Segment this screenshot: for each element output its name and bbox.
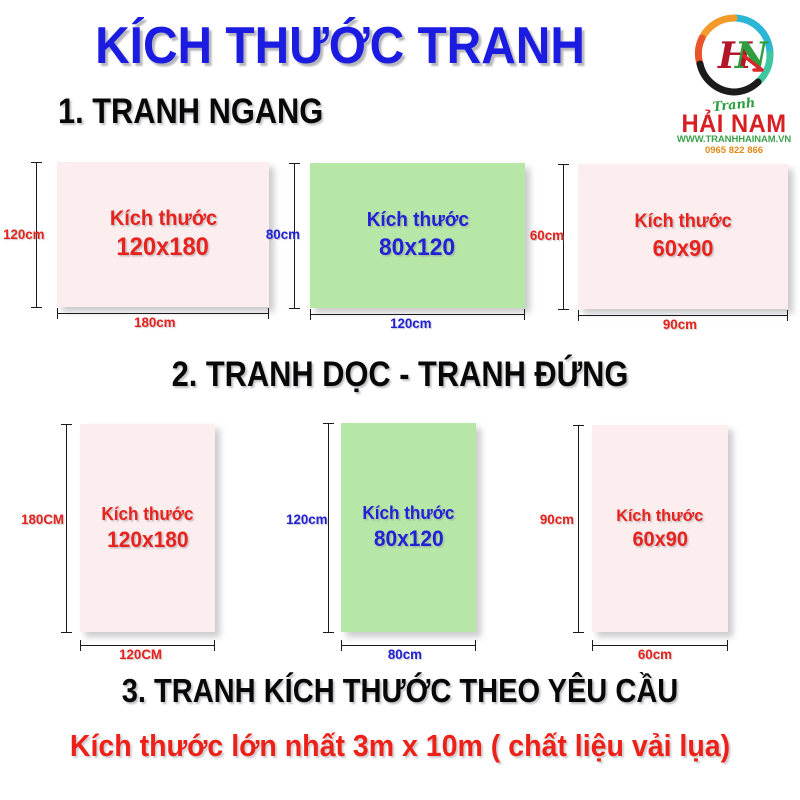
dim-tick-v2-bottom <box>323 632 334 633</box>
dim-label-v1-height: 180CM <box>21 511 64 527</box>
dim-label-v1-width: 120CM <box>119 646 162 662</box>
dim-label-h1-height: 120cm <box>3 226 44 242</box>
canvas-label-prefix: Kích thước <box>109 207 216 231</box>
dim-tick-v3-right <box>727 640 728 651</box>
dim-label-h3-height: 60cm <box>530 227 564 243</box>
canvas-label-size: 60x90 <box>632 528 687 552</box>
page-title: KÍCH THƯỚC TRANH <box>27 16 653 76</box>
dim-tick-h3-bottom <box>558 309 569 310</box>
dim-tick-h1-right <box>268 308 269 319</box>
canvas-label-size: 120x180 <box>117 233 209 262</box>
logo-website: WWW.TRANHHAINAM.VN <box>672 134 796 145</box>
dim-tick-h3-right <box>787 310 788 321</box>
canvas-swatch-v1: Kích thước 120x180 <box>80 424 215 632</box>
dim-tick-h2-top <box>289 163 300 164</box>
dim-label-h1-width: 180cm <box>134 314 175 330</box>
canvas-label-size: 80x120 <box>379 234 455 262</box>
dim-tick-h1-left <box>57 308 58 319</box>
dim-line-v2-height <box>328 423 329 633</box>
dim-tick-v2-top <box>323 423 334 424</box>
dim-label-v2-height: 120cm <box>286 511 327 527</box>
canvas-label-prefix: Kích thước <box>366 209 468 232</box>
canvas-label-prefix: Kích thước <box>617 506 704 526</box>
brand-logo: H N Tranh HẢI NAM WWW.TRANHHAINAM.VN 096… <box>672 12 796 152</box>
dim-tick-v1-top <box>61 424 72 425</box>
canvas-swatch-h3: Kích thước 60x90 <box>578 164 788 309</box>
canvas-swatch-h1: Kích thước 120x180 <box>57 162 269 307</box>
canvas-label-size: 120x180 <box>107 527 188 553</box>
logo-phone: 0965 822 866 <box>672 145 796 156</box>
canvas-label-prefix: Kích thước <box>634 211 731 233</box>
dim-tick-v3-left <box>592 640 593 651</box>
dim-tick-v1-right <box>214 640 215 651</box>
dim-label-h2-width: 120cm <box>390 315 431 331</box>
canvas-swatch-v2: Kích thước 80x120 <box>341 423 476 632</box>
dim-tick-v3-bottom <box>573 632 584 633</box>
dim-tick-h2-right <box>524 309 525 320</box>
canvas-label-prefix: Kích thước <box>101 504 193 525</box>
section-heading-vertical: 2. TRANH DỌC - TRANH ĐỨNG <box>48 355 752 395</box>
canvas-swatch-v3: Kích thước 60x90 <box>592 425 728 632</box>
dim-line-v1-height <box>66 424 67 633</box>
dim-label-v3-width: 60cm <box>638 646 672 662</box>
section-heading-custom: 3. TRANH KÍCH THƯỚC THEO YÊU CẦU <box>48 672 752 710</box>
dim-label-h2-height: 80cm <box>266 226 300 242</box>
canvas-label-size: 80x120 <box>374 526 444 552</box>
dim-label-v3-height: 90cm <box>540 511 574 527</box>
dim-line-v3-height <box>578 425 579 633</box>
dim-tick-h1-top <box>31 162 42 163</box>
canvas-swatch-h2: Kích thước 80x120 <box>310 163 525 308</box>
dim-label-h3-width: 90cm <box>663 316 697 332</box>
canvas-label-size: 60x90 <box>653 235 714 262</box>
dim-label-v2-width: 80cm <box>388 646 422 662</box>
dim-tick-v2-right <box>475 640 476 651</box>
dim-tick-v3-top <box>573 425 584 426</box>
dim-tick-v1-left <box>80 640 81 651</box>
footer-note: Kích thước lớn nhất 3m x 10m ( chất liệu… <box>32 728 768 764</box>
dim-tick-h1-bottom <box>31 307 42 308</box>
dim-tick-h2-bottom <box>289 308 300 309</box>
dim-tick-h3-top <box>558 164 569 165</box>
canvas-label-prefix: Kích thước <box>362 503 454 524</box>
svg-text:N: N <box>734 35 770 77</box>
dim-tick-h2-left <box>310 309 311 320</box>
dim-tick-h3-left <box>578 310 579 321</box>
dim-tick-v1-bottom <box>61 632 72 633</box>
dim-tick-v2-left <box>341 640 342 651</box>
logo-swirl-icon: H N <box>688 12 780 100</box>
section-heading-horizontal: 1. TRANH NGANG <box>58 92 323 132</box>
